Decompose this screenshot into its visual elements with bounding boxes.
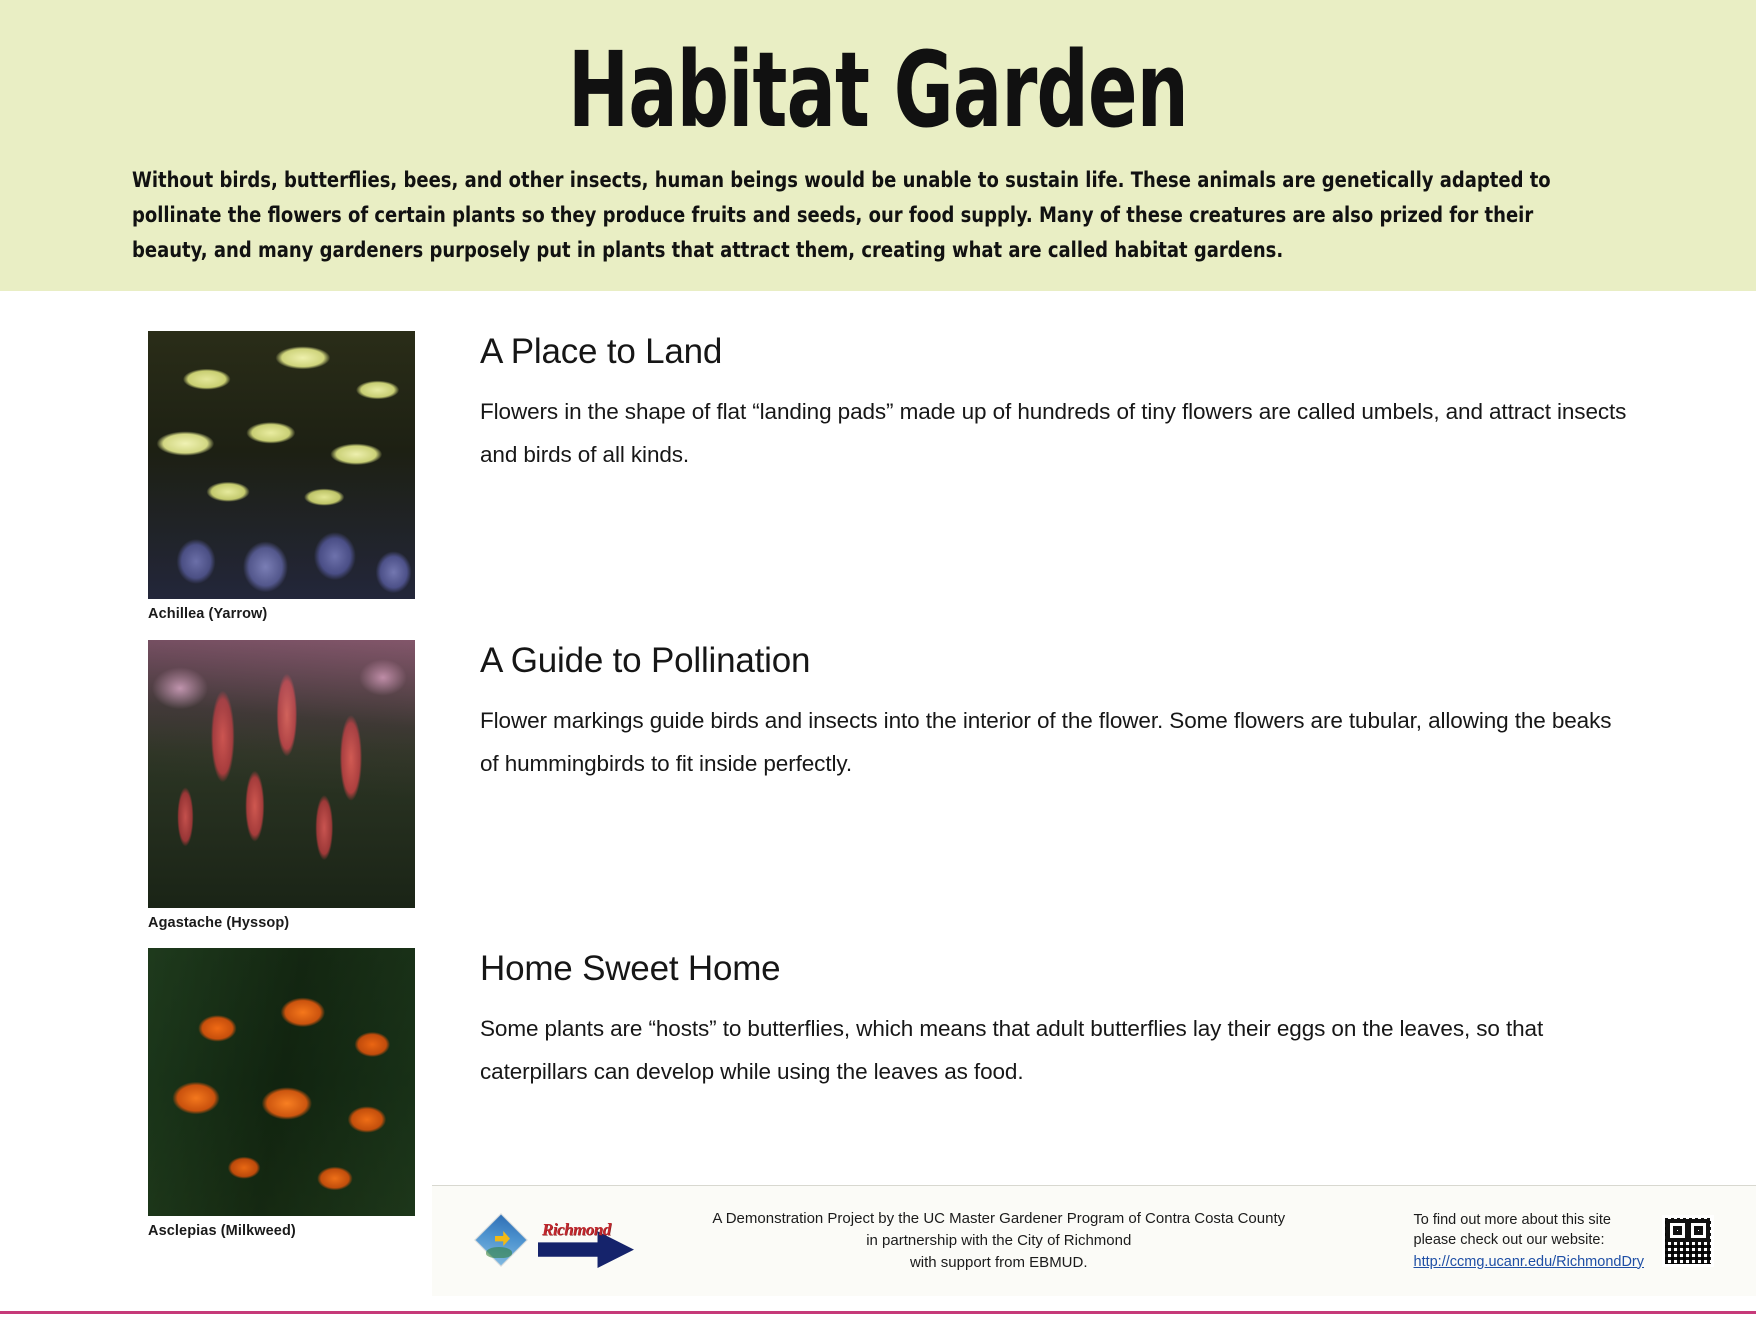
bottom-rule bbox=[0, 1311, 1756, 1314]
habitat-garden-poster: Habitat Garden Without birds, butterflie… bbox=[0, 0, 1756, 1318]
website-info: To find out more about this site please … bbox=[1414, 1210, 1663, 1272]
photo-column: Asclepias (Milkweed) bbox=[0, 948, 390, 1239]
website-url-link[interactable]: http://ccmg.ucanr.edu/RichmondDry bbox=[1414, 1252, 1645, 1272]
section-heading: A Guide to Pollination bbox=[480, 642, 1635, 681]
achillea-yarrow-photo bbox=[148, 331, 415, 599]
header-band: Habitat Garden Without birds, butterflie… bbox=[0, 0, 1756, 291]
text-column: A Place to Land Flowers in the shape of … bbox=[390, 331, 1715, 477]
section-body: Flower markings guide birds and insects … bbox=[480, 699, 1635, 787]
uc-master-gardener-logo-icon bbox=[476, 1215, 528, 1267]
section-heading: A Place to Land bbox=[480, 333, 1635, 372]
text-column: Home Sweet Home Some plants are “hosts” … bbox=[390, 948, 1715, 1094]
find-out-line-1: To find out more about this site bbox=[1414, 1210, 1645, 1230]
text-column: A Guide to Pollination Flower markings g… bbox=[390, 640, 1715, 786]
city-of-richmond-logo-icon: Richmond bbox=[538, 1214, 634, 1268]
asclepias-milkweed-photo bbox=[148, 948, 415, 1216]
footer-logos: Richmond bbox=[432, 1214, 634, 1268]
photo-caption: Agastache (Hyssop) bbox=[148, 915, 390, 931]
section-a-guide-to-pollination: Agastache (Hyssop) A Guide to Pollinatio… bbox=[0, 640, 1715, 931]
photo-caption: Asclepias (Milkweed) bbox=[148, 1223, 390, 1239]
section-body: Some plants are “hosts” to butterflies, … bbox=[480, 1007, 1635, 1095]
credit-line-1: A Demonstration Project by the UC Master… bbox=[644, 1208, 1354, 1230]
photo-caption: Achillea (Yarrow) bbox=[148, 606, 390, 622]
credit-line-2: in partnership with the City of Richmond bbox=[644, 1230, 1354, 1252]
find-out-line-2: please check out our website: bbox=[1414, 1230, 1645, 1250]
intro-paragraph: Without birds, butterflies, bees, and ot… bbox=[132, 164, 1611, 268]
photo-column: Achillea (Yarrow) bbox=[0, 331, 390, 622]
qr-code-icon[interactable] bbox=[1662, 1215, 1714, 1267]
page-title: Habitat Garden bbox=[193, 38, 1563, 142]
photo-column: Agastache (Hyssop) bbox=[0, 640, 390, 931]
section-a-place-to-land: Achillea (Yarrow) A Place to Land Flower… bbox=[0, 331, 1715, 622]
credit-text: A Demonstration Project by the UC Master… bbox=[634, 1208, 1414, 1273]
section-heading: Home Sweet Home bbox=[480, 950, 1635, 989]
agastache-hyssop-photo bbox=[148, 640, 415, 908]
section-body: Flowers in the shape of flat “landing pa… bbox=[480, 390, 1635, 478]
credit-line-3: with support from EBMUD. bbox=[644, 1252, 1354, 1274]
footer: Richmond A Demonstration Project by the … bbox=[432, 1186, 1756, 1296]
richmond-logo-wordmark: Richmond bbox=[542, 1220, 611, 1240]
content-area: Achillea (Yarrow) A Place to Land Flower… bbox=[0, 291, 1756, 1318]
